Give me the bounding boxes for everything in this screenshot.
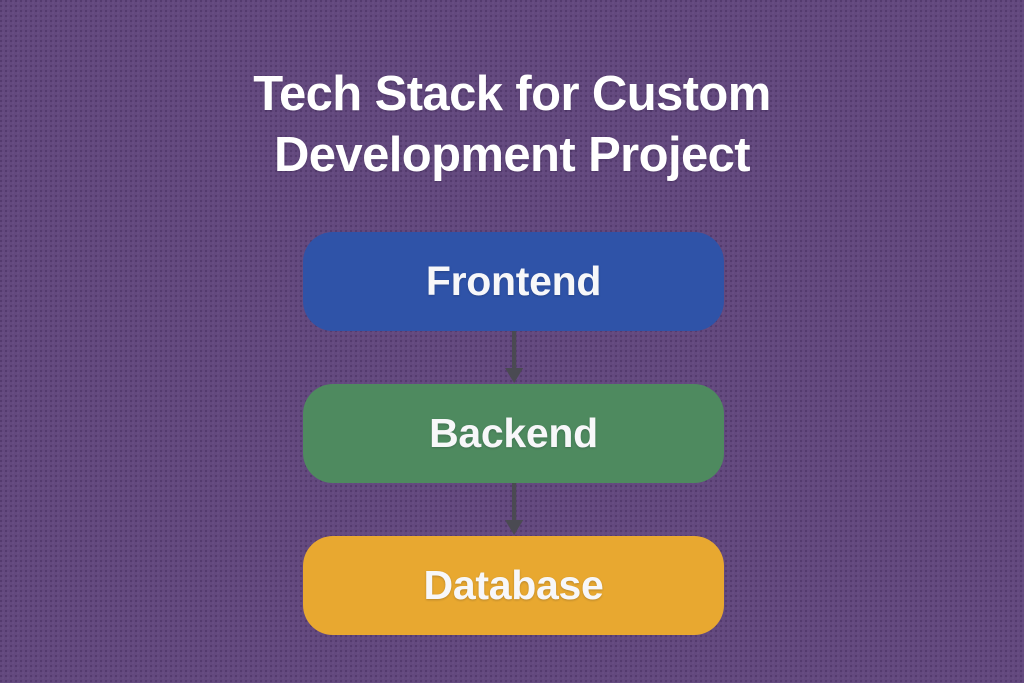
- flow-node-frontend[interactable]: Frontend: [303, 232, 724, 331]
- flow-node-label: Frontend: [426, 258, 601, 305]
- arrow-down-icon-backend-to-database: [500, 483, 528, 538]
- arrow-down-icon-frontend-to-backend: [500, 331, 528, 386]
- flow-node-label: Backend: [429, 410, 598, 457]
- flow-node-database[interactable]: Database: [303, 536, 724, 635]
- page-title: Tech Stack for Custom Development Projec…: [0, 64, 1024, 186]
- flow-node-label: Database: [424, 562, 604, 609]
- tech-stack-flowchart: Frontend Backend Database: [303, 232, 724, 636]
- flow-node-backend[interactable]: Backend: [303, 384, 724, 483]
- slide-canvas: Tech Stack for Custom Development Projec…: [0, 0, 1024, 683]
